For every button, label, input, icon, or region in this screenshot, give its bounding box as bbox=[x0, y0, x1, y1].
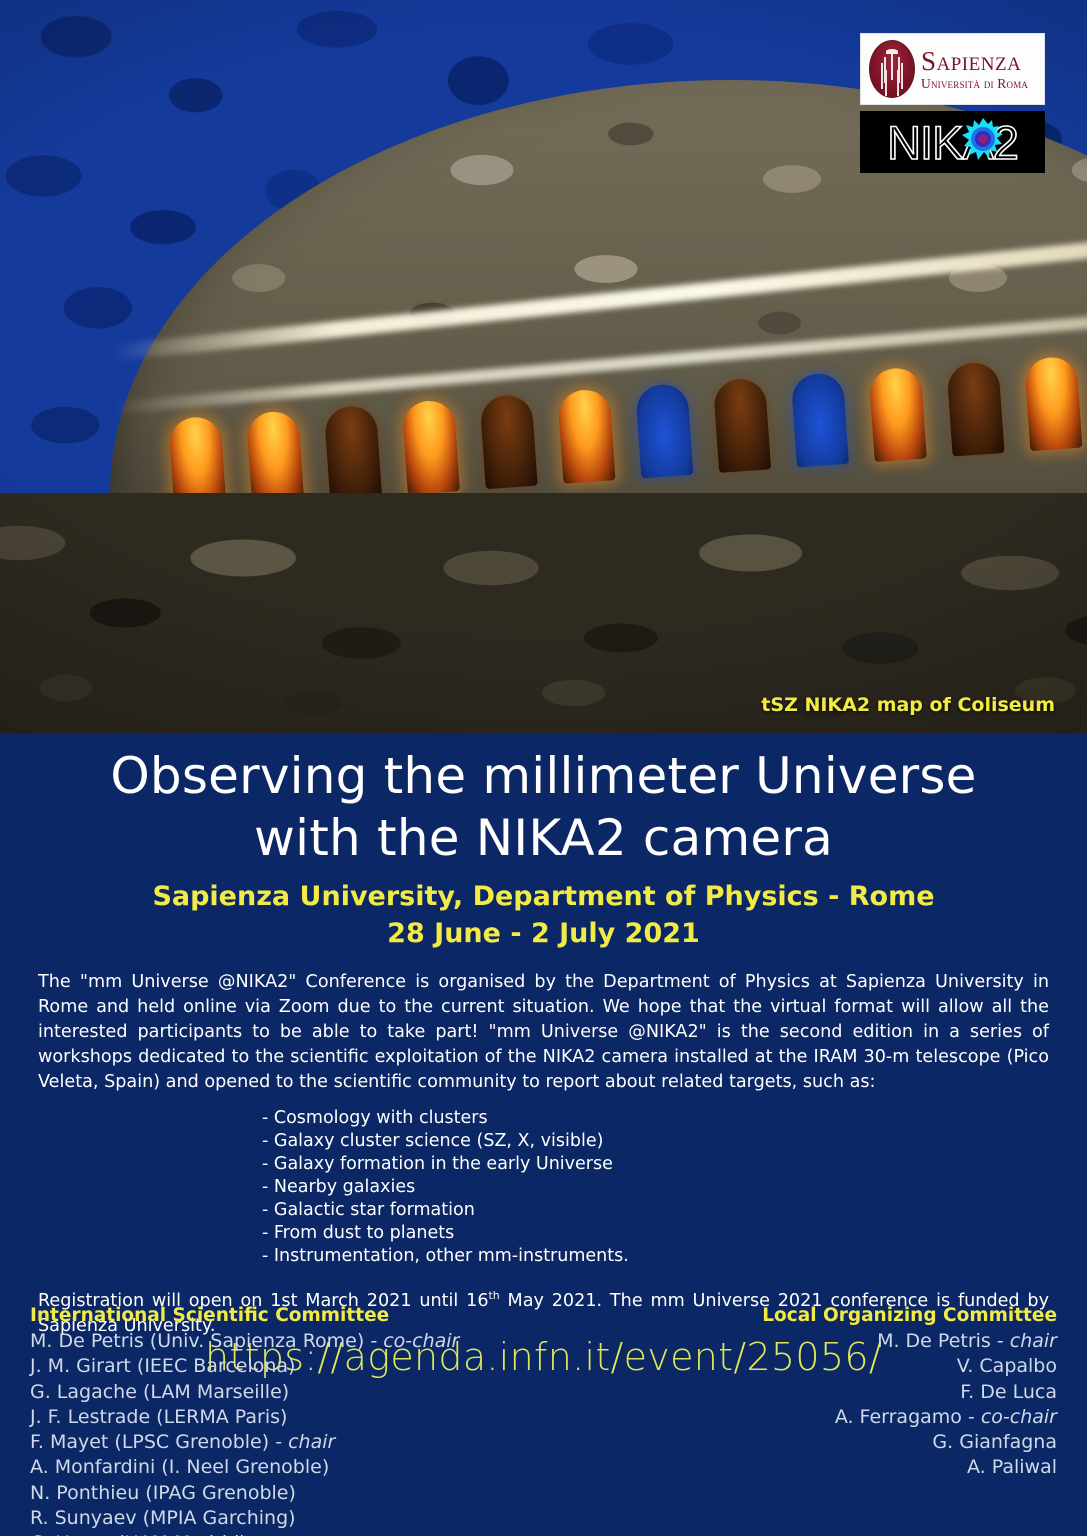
committee-member: M. De Petris - chair bbox=[564, 1329, 1057, 1354]
arch bbox=[479, 394, 537, 489]
committee-member: J. M. Girart (IEEC Barcelona) bbox=[30, 1354, 523, 1379]
committee-member-name: M. De Petris (Univ. Sapienza Rome) bbox=[30, 1330, 364, 1352]
committee-member-name: R. Sunyaev (MPIA Garching) bbox=[30, 1507, 296, 1529]
title-line-2: with the NIKA2 camera bbox=[0, 807, 1087, 869]
committees-section: International Scientific Committee M. De… bbox=[0, 1305, 1087, 1536]
local-committee-heading: Local Organizing Committee bbox=[564, 1305, 1057, 1326]
logo-group: Sapienza Università di Roma NIKA2 bbox=[860, 33, 1045, 173]
committee-member-name: G. Lagache (LAM Marseille) bbox=[30, 1381, 289, 1403]
sapienza-name-line1: Sapienza bbox=[921, 48, 1028, 75]
arch bbox=[791, 372, 849, 467]
committee-member: M. De Petris (Univ. Sapienza Rome) - co-… bbox=[30, 1329, 523, 1354]
committee-member-name: J. F. Lestrade (LERMA Paris) bbox=[30, 1406, 287, 1428]
topic-item: - Galaxy cluster science (SZ, X, visible… bbox=[262, 1130, 1087, 1153]
committee-member-name: F. Mayet (LPSC Grenoble) - bbox=[30, 1431, 288, 1453]
committee-member-name: G. Yepes (UAM Madrid) bbox=[30, 1532, 247, 1536]
topic-item: - From dust to planets bbox=[262, 1222, 1087, 1245]
committee-member-name: A. Ferragamo - bbox=[835, 1406, 981, 1428]
sapienza-crest-icon bbox=[869, 40, 915, 98]
committee-member-name: A. Monfardini (I. Neel Grenoble) bbox=[30, 1456, 329, 1478]
nika2-logo: NIKA2 bbox=[860, 111, 1045, 173]
topic-item: - Galaxy formation in the early Universe bbox=[262, 1153, 1087, 1176]
topics-list: - Cosmology with clusters- Galaxy cluste… bbox=[262, 1107, 1087, 1267]
photo-caption: tSZ NIKA2 map of Coliseum bbox=[761, 694, 1055, 716]
event-subtitle: Sapienza University, Department of Physi… bbox=[0, 879, 1087, 952]
committee-member: R. Sunyaev (MPIA Garching) bbox=[30, 1506, 523, 1531]
committee-member-name: N. Ponthieu (IPAG Grenoble) bbox=[30, 1482, 296, 1504]
international-committee-heading: International Scientific Committee bbox=[30, 1305, 523, 1326]
local-committee: Local Organizing Committee M. De Petris … bbox=[564, 1305, 1057, 1536]
event-dates: 28 June - 2 July 2021 bbox=[0, 916, 1087, 953]
international-committee: International Scientific Committee M. De… bbox=[30, 1305, 523, 1536]
intro-paragraph: The "mm Universe @NIKA2" Conference is o… bbox=[38, 970, 1049, 1095]
committee-member: A. Ferragamo - co-chair bbox=[564, 1405, 1057, 1430]
event-venue: Sapienza University, Department of Physi… bbox=[0, 879, 1087, 916]
committee-member-name: J. M. Girart (IEEC Barcelona) bbox=[30, 1355, 295, 1377]
committee-member: G. Lagache (LAM Marseille) bbox=[30, 1380, 523, 1405]
nika2-wordmark: NIKA2 bbox=[887, 119, 1018, 166]
page-title: Observing the millimeter Universe with t… bbox=[0, 733, 1087, 869]
committee-member-name: A. Paliwal bbox=[967, 1456, 1057, 1478]
committee-member: J. F. Lestrade (LERMA Paris) bbox=[30, 1405, 523, 1430]
committee-member: A. Paliwal bbox=[564, 1455, 1057, 1480]
topic-item: - Cosmology with clusters bbox=[262, 1107, 1087, 1130]
committee-member-name: V. Capalbo bbox=[957, 1355, 1057, 1377]
sapienza-name-line2: Università di Roma bbox=[921, 77, 1028, 91]
arch bbox=[246, 410, 304, 505]
committee-member-name: G. Gianfagna bbox=[932, 1431, 1057, 1453]
committee-member-role: co-chair bbox=[981, 1406, 1057, 1428]
local-committee-list: M. De Petris - chairV. CapalboF. De Luca… bbox=[564, 1329, 1057, 1481]
committee-member-name: M. De Petris - bbox=[877, 1330, 1010, 1352]
committee-member: G. Gianfagna bbox=[564, 1430, 1057, 1455]
committee-member-role: - co-chair bbox=[364, 1330, 459, 1352]
arch bbox=[402, 399, 460, 494]
arch bbox=[868, 367, 926, 462]
committee-member-name: F. De Luca bbox=[960, 1381, 1057, 1403]
sapienza-logo: Sapienza Università di Roma bbox=[860, 33, 1045, 105]
committee-member: V. Capalbo bbox=[564, 1354, 1057, 1379]
committee-member-role: chair bbox=[1010, 1330, 1057, 1352]
registration-ordinal-suffix: th bbox=[489, 1289, 500, 1302]
international-committee-list: M. De Petris (Univ. Sapienza Rome) - co-… bbox=[30, 1329, 523, 1536]
topic-item: - Instrumentation, other mm-instruments. bbox=[262, 1245, 1087, 1268]
arch bbox=[1024, 356, 1082, 451]
arch bbox=[946, 361, 1004, 456]
committee-member-role: chair bbox=[288, 1431, 335, 1453]
title-line-1: Observing the millimeter Universe bbox=[0, 745, 1087, 807]
arch bbox=[557, 388, 615, 483]
topic-item: - Galactic star formation bbox=[262, 1199, 1087, 1222]
committee-member: G. Yepes (UAM Madrid) bbox=[30, 1531, 523, 1536]
topic-item: - Nearby galaxies bbox=[262, 1176, 1087, 1199]
arch bbox=[324, 405, 382, 500]
committee-member: F. Mayet (LPSC Grenoble) - chair bbox=[30, 1430, 523, 1455]
committee-member: N. Ponthieu (IPAG Grenoble) bbox=[30, 1481, 523, 1506]
arch bbox=[635, 383, 693, 478]
conference-poster: Sapienza Università di Roma NIKA2 tSZ NI… bbox=[0, 0, 1087, 1536]
sapienza-wordmark: Sapienza Università di Roma bbox=[921, 48, 1028, 91]
committee-member: F. De Luca bbox=[564, 1380, 1057, 1405]
committee-member: A. Monfardini (I. Neel Grenoble) bbox=[30, 1455, 523, 1480]
arch bbox=[713, 377, 771, 472]
